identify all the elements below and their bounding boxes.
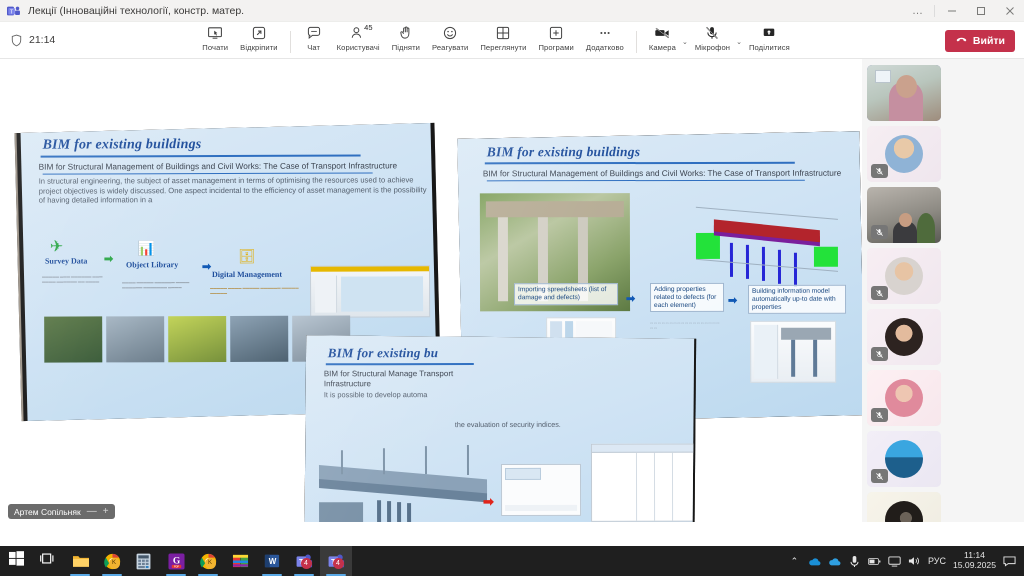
toolbar-item-chat[interactable]: Чат	[297, 23, 331, 59]
caption-text-block: ▬▬▬▬▬ ▬▬▬▬ ▬▬▬▬▬ ▬▬▬▬▬▬ ▬▬▬▬▬ ▬▬▬▬▬	[210, 286, 300, 312]
participant-tile-2[interactable]	[867, 126, 941, 182]
caption-text-block: ▬▬▬▬ ▬▬▬▬▬ ▬▬▬▬▬▬ ▬▬▬▬ ▬▬▬▬▬▬ ▬▬▬▬▬▬▬ ▬▬…	[122, 280, 208, 310]
taskbar-item-chrome-2[interactable]: K	[192, 546, 224, 576]
participant-tile-7[interactable]	[867, 431, 941, 487]
close-button[interactable]	[995, 0, 1024, 22]
taskbar-item-calculator[interactable]	[128, 546, 160, 576]
divider	[934, 5, 935, 17]
windows-taskbar: K GPDF K	[0, 546, 1024, 576]
arrow-icon: ➡	[104, 252, 113, 265]
muted-badge	[871, 164, 888, 178]
toolbar-item-participants[interactable]: 45 Користувачі	[331, 23, 386, 59]
drone-icon: ✈	[50, 237, 63, 257]
flow-step-2: Adding properties related to defects (fo…	[650, 283, 724, 312]
tray-chevron-up-icon[interactable]: ⌃	[788, 555, 801, 568]
taskbar-item-pdf-app[interactable]: GPDF	[160, 546, 192, 576]
zoom-in-button[interactable]: +	[103, 506, 109, 517]
participant-tile-3[interactable]	[867, 187, 941, 243]
caption-text-block: ▬▬▬▬▬ ▬▬▬ ▬▬▬▬▬▬ ▬▬▬ ▬▬▬▬ ▬▬▬▬▬▬ ▬▬ ▬▬▬▬	[42, 274, 106, 304]
slide-title: BIM for existing buildings	[43, 136, 427, 153]
toolbar-item-more[interactable]: Додатково	[580, 23, 630, 59]
thumb-photo	[168, 316, 226, 362]
flow-step-1: Importing spreedsheets (list of damage a…	[514, 283, 618, 305]
muted-badge	[871, 408, 888, 422]
title-rule	[326, 363, 474, 365]
flow-step-3: Building information model automatically…	[748, 285, 846, 314]
reactions-icon	[442, 25, 458, 41]
muted-badge	[871, 347, 888, 361]
heading-underline	[487, 180, 805, 182]
toolbar-label: Почати	[202, 43, 228, 52]
language-indicator[interactable]: РУС	[928, 556, 946, 566]
thumb-photo	[44, 316, 102, 362]
leave-button-label: Вийти	[973, 35, 1005, 47]
apps-icon	[548, 25, 564, 41]
chrome-icon: K	[104, 553, 121, 570]
toolbar-label: Реагувати	[432, 43, 468, 52]
person-head	[899, 213, 912, 227]
teams-icon: T 4	[328, 553, 345, 570]
hang-up-icon	[955, 33, 968, 49]
title-bar: T Лекції (Інноваційні технології, констр…	[0, 0, 1024, 22]
toolbar-label: Чат	[307, 43, 320, 52]
meeting-duration-group: 21:14	[0, 34, 55, 47]
database-icon: 🗄	[238, 248, 256, 265]
start-button[interactable]	[0, 546, 32, 576]
toolbar-label: Програми	[538, 43, 573, 52]
toolbar-right: Вийти	[937, 22, 1024, 59]
arrow-icon: ➡	[626, 292, 635, 305]
taskbar-item-teams[interactable]: T 4	[288, 546, 320, 576]
taskbar-item-word[interactable]: W	[256, 546, 288, 576]
toolbar-item-raise-hand[interactable]: Підняти	[386, 23, 426, 59]
microphone-chevron-down-icon[interactable]: ⌄	[736, 38, 743, 59]
background-frame	[875, 70, 891, 83]
microphone-icon[interactable]	[848, 555, 861, 568]
taskbar-item-chrome[interactable]: K	[96, 546, 128, 576]
toolbar-item-view[interactable]: Переглянути	[474, 23, 532, 59]
projector-screen: BIM for existing bu BIM for Structural M…	[304, 335, 694, 522]
participants-rail: ‹ 1/5 ›	[862, 59, 1024, 522]
thumb-photo	[230, 316, 288, 362]
bridge-render	[319, 442, 489, 522]
presenter-name: Артем Сопільняк	[14, 507, 81, 517]
toolbar-item-share[interactable]: Поділитися	[743, 23, 796, 59]
toolbar-actions: Почати Відкріпити Чат	[196, 22, 796, 59]
clock-date: 15.09.2025	[953, 561, 996, 571]
leave-button[interactable]: Вийти	[945, 30, 1015, 52]
slide-heading: BIM for Structural Manage Transport Infr…	[324, 369, 474, 389]
avatar	[885, 440, 923, 478]
avatar	[885, 135, 923, 173]
meeting-stage: BIM for existing buildings BIM for Struc…	[0, 59, 862, 522]
share-icon	[761, 25, 777, 41]
windows-start-icon	[9, 551, 24, 571]
camera-off-icon	[654, 25, 671, 41]
toolbar-label: Поділитися	[749, 43, 790, 52]
bim-model-thumb	[750, 321, 836, 383]
raise-hand-icon	[398, 25, 414, 41]
slide-title: BIM for existing buildings	[487, 144, 855, 161]
data-table-screenshot	[591, 444, 694, 522]
chrome-icon: K	[200, 553, 217, 570]
arrow-icon: ➡	[202, 260, 211, 273]
bar-chart-icon: 📊	[138, 240, 155, 257]
toolbar-label: Мікрофон	[695, 43, 730, 52]
diagram-caption-1: Survey Data	[45, 256, 87, 265]
toolbar-label: Додатково	[586, 43, 624, 52]
svg-text:W: W	[268, 557, 276, 566]
toolbar-item-apps[interactable]: Програми	[532, 23, 579, 59]
teams-icon: T	[7, 4, 21, 18]
shield-icon	[10, 34, 23, 47]
display-icon[interactable]	[888, 555, 901, 568]
present-screen-icon	[207, 25, 223, 41]
bridge-pier	[746, 245, 749, 279]
slide-diagram: ✈ Survey Data ➡ 📊 Object Library ➡ 🗄 Dig…	[42, 237, 432, 308]
profile-badge: K	[109, 558, 120, 569]
muted-badge	[871, 225, 888, 239]
participant-tile-5[interactable]	[867, 309, 941, 365]
view-grid-icon	[495, 25, 511, 41]
meeting-timer: 21:14	[29, 34, 55, 46]
slide-body: In structural engineering, the subject o…	[39, 175, 427, 205]
arrow-icon: ➡	[728, 294, 737, 307]
toolbar-item-reactions[interactable]: Реагувати	[426, 23, 474, 59]
maximize-button[interactable]	[966, 0, 995, 22]
muted-badge	[871, 286, 888, 300]
teams-icon: T 4	[296, 553, 313, 570]
task-view-icon	[40, 551, 56, 571]
window-controls: …	[903, 0, 1024, 22]
plant	[917, 213, 935, 243]
winrar-icon	[232, 553, 249, 570]
toolbar-label: Користувачі	[337, 43, 380, 52]
title-rule	[485, 162, 795, 165]
avatar	[885, 318, 923, 356]
notification-badge: 4	[301, 558, 312, 569]
toolbar-label: Переглянути	[480, 43, 526, 52]
minimize-button[interactable]	[937, 0, 966, 22]
more-ellipsis-icon	[597, 25, 613, 41]
notification-icon[interactable]	[1003, 555, 1016, 568]
toolbar-divider	[290, 31, 291, 53]
microphone-off-icon	[704, 25, 720, 41]
bridge-pier	[730, 243, 733, 277]
diagram-caption-3: Digital Management	[212, 270, 282, 279]
profile-badge: K	[205, 558, 216, 569]
chat-icon	[306, 25, 322, 41]
toolbar-label: Підняти	[392, 43, 420, 52]
slide-heading: BIM for Structural Management of Buildin…	[483, 168, 853, 179]
dialog-screenshot	[501, 464, 581, 516]
participant-tile-4[interactable]	[867, 248, 941, 304]
participants-count: 45	[364, 23, 372, 32]
participant-tile-8[interactable]	[867, 492, 941, 522]
participant-tile-6[interactable]	[867, 370, 941, 426]
toolbar-item-unpin[interactable]: Відкріпити	[234, 23, 284, 59]
zoom-out-button[interactable]: —	[87, 506, 97, 517]
slide-body: It is possible to develop automa	[324, 390, 476, 399]
people-icon: 45	[350, 25, 366, 41]
onedrive-icon[interactable]	[808, 555, 821, 568]
toolbar-item-start-present[interactable]: Почати	[196, 23, 234, 59]
system-tray: ⌃ РУС 11:14 15.09.2025	[788, 551, 1024, 571]
clock[interactable]: 11:14 15.09.2025	[953, 551, 996, 571]
slide-heading: BIM for Structural Management of Buildin…	[39, 160, 429, 171]
window-title: Лекції (Інноваційні технології, констр. …	[28, 5, 244, 17]
taskbar-item-winrar[interactable]	[224, 546, 256, 576]
photo-strip	[44, 316, 350, 363]
teams-meeting-window: T Лекції (Інноваційні технології, констр…	[0, 0, 1024, 576]
taskbar-item-teams-active[interactable]: T 4	[320, 546, 352, 576]
file-explorer-icon	[72, 553, 89, 570]
pop-out-icon	[251, 25, 267, 41]
toolbar-label: Камера	[649, 43, 676, 52]
presenter-name-chip: Артем Сопільняк — +	[8, 504, 115, 519]
diagram-caption-2: Object Library	[126, 260, 178, 269]
taskbar-item-file-explorer[interactable]	[64, 546, 96, 576]
slide-note: the evaluation of security indices.	[455, 420, 665, 429]
avatar	[885, 379, 923, 417]
word-icon: W	[264, 553, 281, 570]
title-rule	[41, 155, 361, 158]
camera-chevron-down-icon[interactable]: ⌄	[682, 38, 689, 59]
slide-title: BIM for existing bu	[328, 345, 686, 362]
toolbar-item-camera[interactable]: Камера	[643, 23, 682, 59]
participant-tile-1[interactable]	[867, 65, 941, 121]
avatar	[885, 257, 923, 295]
bridge-abutment	[696, 233, 720, 259]
notification-badge: 4	[333, 558, 344, 569]
muted-badge	[871, 469, 888, 483]
meeting-toolbar: 21:14 Почати Відкріпити	[0, 22, 1024, 59]
battery-icon[interactable]	[868, 555, 881, 568]
svg-text:PDF: PDF	[173, 564, 179, 568]
pdf-app-icon: GPDF	[168, 553, 185, 570]
toolbar-divider	[636, 31, 637, 53]
participants-grid	[867, 65, 1019, 522]
toolbar-item-microphone[interactable]: Мікрофон	[689, 23, 736, 59]
person-head	[896, 75, 917, 98]
bridge-pier	[794, 253, 797, 287]
tv-frame: BIM for existing bu BIM for Structural M…	[304, 335, 696, 522]
heading-underline	[43, 173, 373, 175]
slide-content: BIM for existing bu BIM for Structural M…	[305, 336, 693, 522]
screenshot-inset	[310, 265, 430, 317]
arrow-icon: ➡	[483, 494, 494, 510]
volume-icon[interactable]	[908, 555, 921, 568]
window-more-icon[interactable]: …	[903, 0, 932, 22]
bridge-abutment	[814, 247, 838, 267]
photo-slide-3: BIM for existing bu BIM for Structural M…	[304, 335, 696, 522]
onedrive-blue-icon[interactable]	[828, 555, 841, 568]
task-view-button[interactable]	[32, 546, 64, 576]
thumb-photo	[106, 316, 164, 362]
calculator-icon	[136, 553, 153, 570]
toolbar-label: Відкріпити	[240, 43, 278, 52]
